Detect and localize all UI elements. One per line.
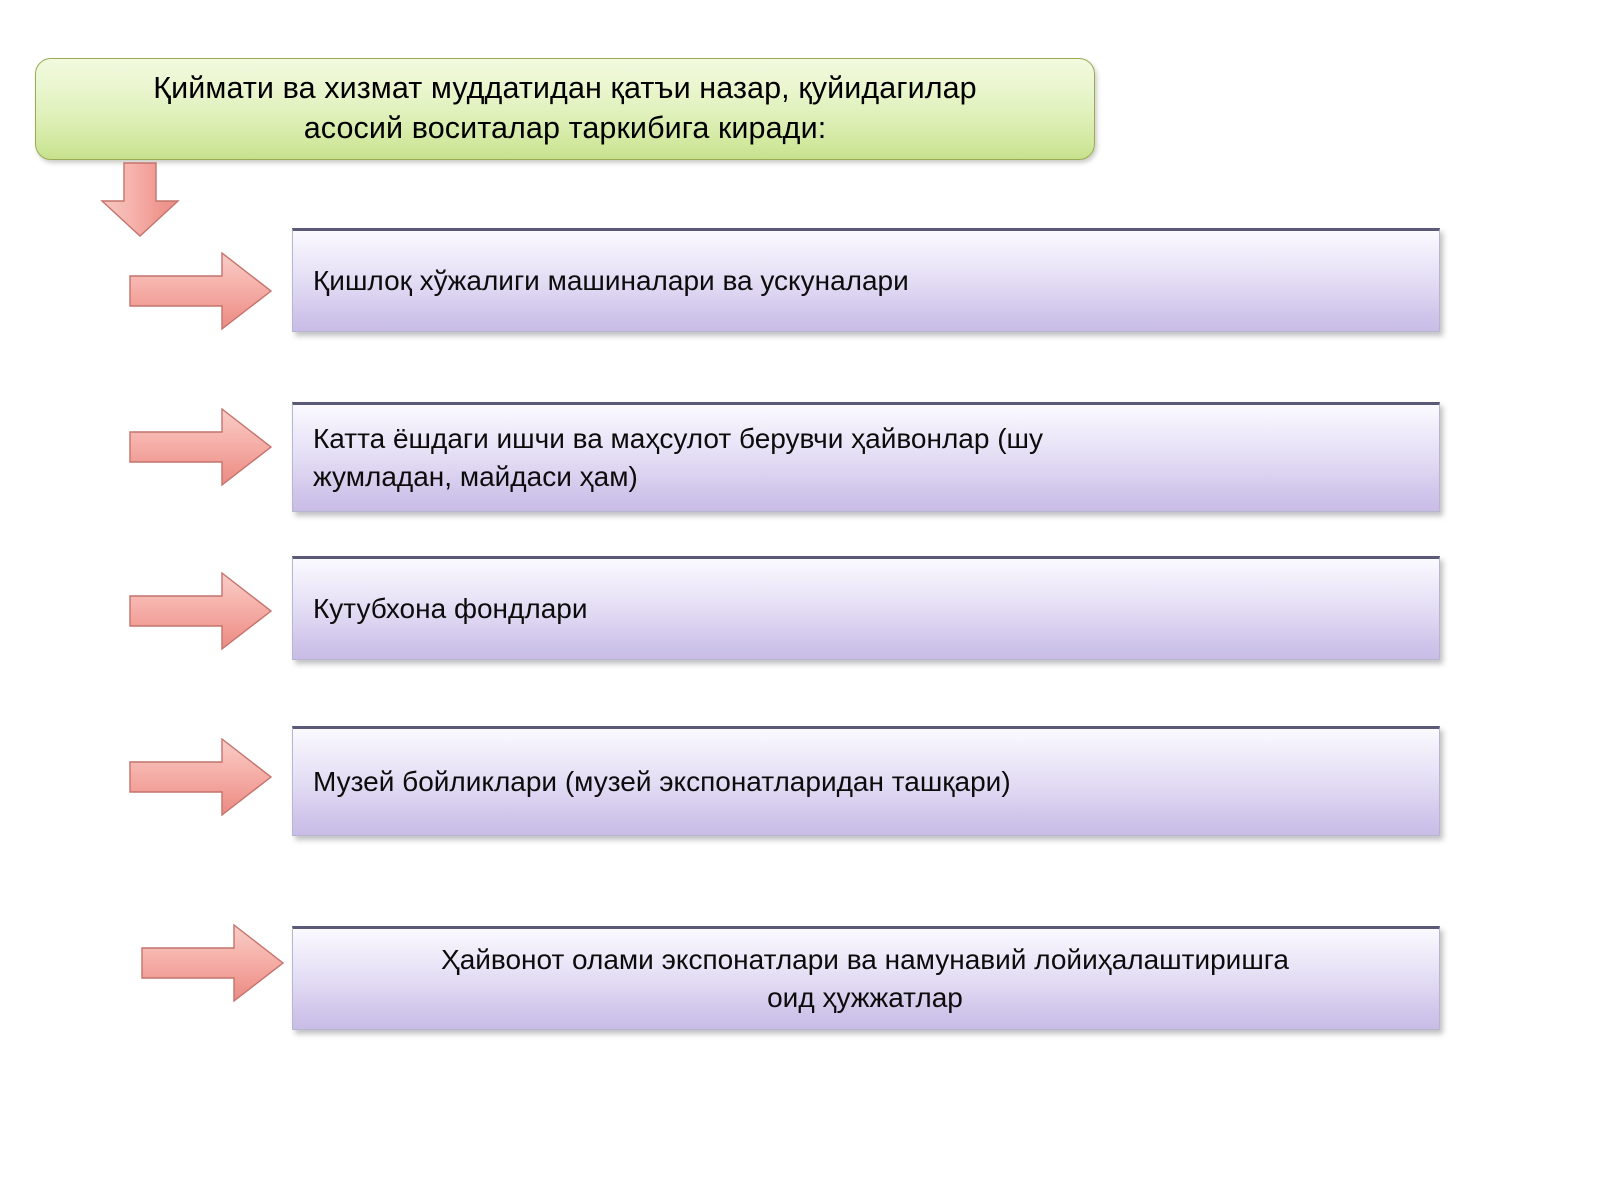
right-arrow-icon xyxy=(128,406,274,488)
content-text-5-line-2: оид ҳужжатлар xyxy=(313,979,1417,1017)
content-text-2-line-1: Катта ёшдаги ишчи ва маҳсулот берувчи ҳа… xyxy=(313,420,1417,458)
content-box-5: Ҳайвонот олами экспонатлари ва намунавий… xyxy=(292,926,1440,1030)
content-text-4: Музей бойликлари (музей экспонатларидан … xyxy=(293,763,1439,801)
down-arrow-icon xyxy=(98,161,182,239)
content-box-2: Катта ёшдаги ишчи ва маҳсулот берувчи ҳа… xyxy=(292,402,1440,512)
header-line-2: асосий воситалар таркибига киради: xyxy=(62,108,1068,148)
header-callout-box: Қиймати ва хизмат муддатидан қатъи назар… xyxy=(35,58,1095,160)
header-line-1: Қиймати ва хизмат муддатидан қатъи назар… xyxy=(153,71,976,105)
right-arrow-icon xyxy=(140,922,286,1004)
header-text: Қиймати ва хизмат муддатидан қатъи назар… xyxy=(62,68,1068,149)
right-arrow-icon xyxy=(128,736,274,818)
content-box-4: Музей бойликлари (музей экспонатларидан … xyxy=(292,726,1440,836)
content-text-5-line-1: Ҳайвонот олами экспонатлари ва намунавий… xyxy=(313,941,1417,979)
content-text-2-line-2: жумладан, майдаси ҳам) xyxy=(313,458,1417,496)
content-text-1: Қишлоқ хўжалиги машиналари ва ускуналари xyxy=(293,262,1439,300)
content-text-5: Ҳайвонот олами экспонатлари ва намунавий… xyxy=(293,941,1439,1016)
right-arrow-icon xyxy=(128,570,274,652)
slide-canvas: Қиймати ва хизмат муддатидан қатъи назар… xyxy=(0,0,1600,1200)
content-text-2: Катта ёшдаги ишчи ва маҳсулот берувчи ҳа… xyxy=(293,420,1439,495)
content-box-3: Кутубхона фондлари xyxy=(292,556,1440,660)
right-arrow-icon xyxy=(128,250,274,332)
content-box-1: Қишлоқ хўжалиги машиналари ва ускуналари xyxy=(292,228,1440,332)
content-text-3: Кутубхона фондлари xyxy=(293,590,1439,628)
